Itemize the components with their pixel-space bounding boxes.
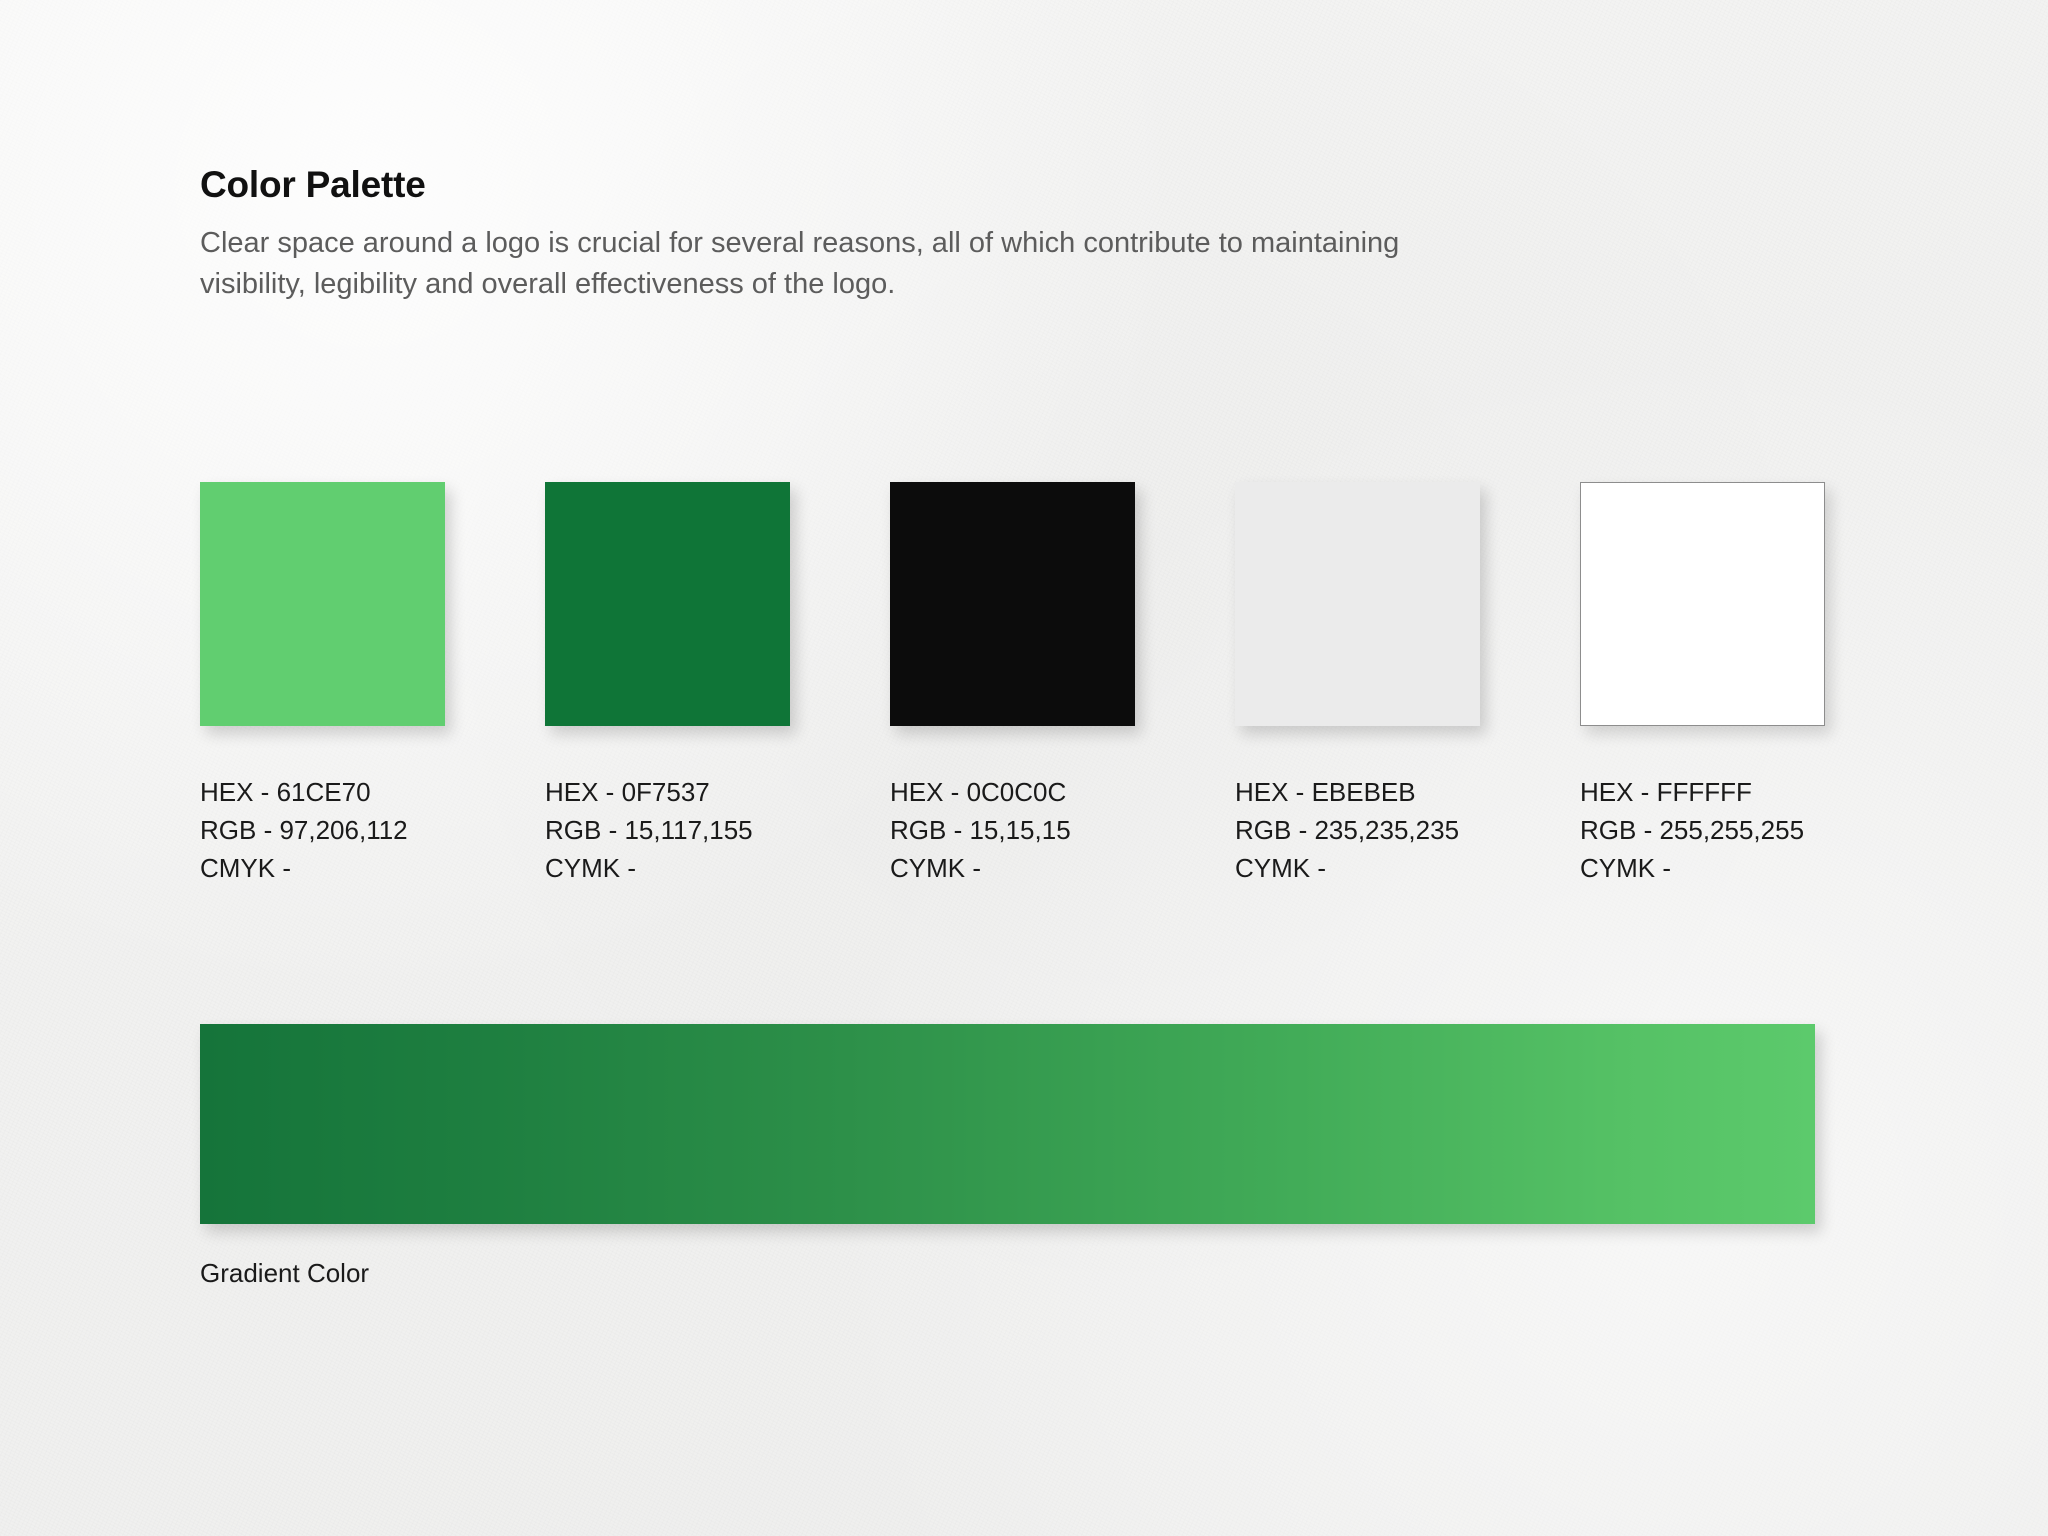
swatch-cmyk-value: CYMK -: [545, 850, 890, 888]
swatch-hex-value: HEX - 61CE70: [200, 774, 545, 812]
swatch-rgb-value: RGB - 15,117,155: [545, 812, 890, 850]
page-header: Color Palette Clear space around a logo …: [200, 165, 1500, 306]
swatch-hex-value: HEX - EBEBEB: [1235, 774, 1580, 812]
gradient-caption: Gradient Color: [200, 1257, 1815, 1291]
color-swatch-info: HEX - 61CE70RGB - 97,206,112CMYK -: [200, 774, 545, 888]
color-swatch-cell: HEX - 0F7537RGB - 15,117,155CYMK -: [545, 482, 890, 888]
color-swatch-cell: HEX - 61CE70RGB - 97,206,112CMYK -: [200, 482, 545, 888]
swatch-cmyk-value: CYMK -: [1235, 850, 1580, 888]
swatch-hex-value: HEX - 0F7537: [545, 774, 890, 812]
color-swatch-chip-light-gray[interactable]: [1235, 482, 1480, 726]
swatch-hex-value: HEX - FFFFFF: [1580, 774, 1925, 812]
gradient-color-bar: [200, 1024, 1815, 1224]
swatch-cmyk-value: CYMK -: [1580, 850, 1925, 888]
color-swatch-row: HEX - 61CE70RGB - 97,206,112CMYK -HEX - …: [200, 482, 1925, 888]
color-swatch-chip-light-green[interactable]: [200, 482, 445, 726]
swatch-rgb-value: RGB - 235,235,235: [1235, 812, 1580, 850]
color-swatch-chip-white[interactable]: [1580, 482, 1825, 726]
swatch-rgb-value: RGB - 97,206,112: [200, 812, 545, 850]
swatch-cmyk-value: CMYK -: [200, 850, 545, 888]
color-swatch-info: HEX - 0F7537RGB - 15,117,155CYMK -: [545, 774, 890, 888]
swatch-hex-value: HEX - 0C0C0C: [890, 774, 1235, 812]
swatch-rgb-value: RGB - 255,255,255: [1580, 812, 1925, 850]
color-swatch-chip-dark-green[interactable]: [545, 482, 790, 726]
swatch-cmyk-value: CYMK -: [890, 850, 1235, 888]
color-swatch-chip-near-black[interactable]: [890, 482, 1135, 726]
color-swatch-info: HEX - FFFFFFRGB - 255,255,255CYMK -: [1580, 774, 1925, 888]
color-swatch-info: HEX - EBEBEBRGB - 235,235,235CYMK -: [1235, 774, 1580, 888]
swatch-rgb-value: RGB - 15,15,15: [890, 812, 1235, 850]
color-swatch-cell: HEX - FFFFFFRGB - 255,255,255CYMK -: [1580, 482, 1925, 888]
page-subtitle: Clear space around a logo is crucial for…: [200, 223, 1430, 306]
page-title: Color Palette: [200, 165, 1500, 206]
color-swatch-cell: HEX - 0C0C0CRGB - 15,15,15CYMK -: [890, 482, 1235, 888]
gradient-section: Gradient Color: [200, 1024, 1815, 1291]
color-palette-page: Color Palette Clear space around a logo …: [0, 0, 2048, 1536]
color-swatch-info: HEX - 0C0C0CRGB - 15,15,15CYMK -: [890, 774, 1235, 888]
color-swatch-cell: HEX - EBEBEBRGB - 235,235,235CYMK -: [1235, 482, 1580, 888]
